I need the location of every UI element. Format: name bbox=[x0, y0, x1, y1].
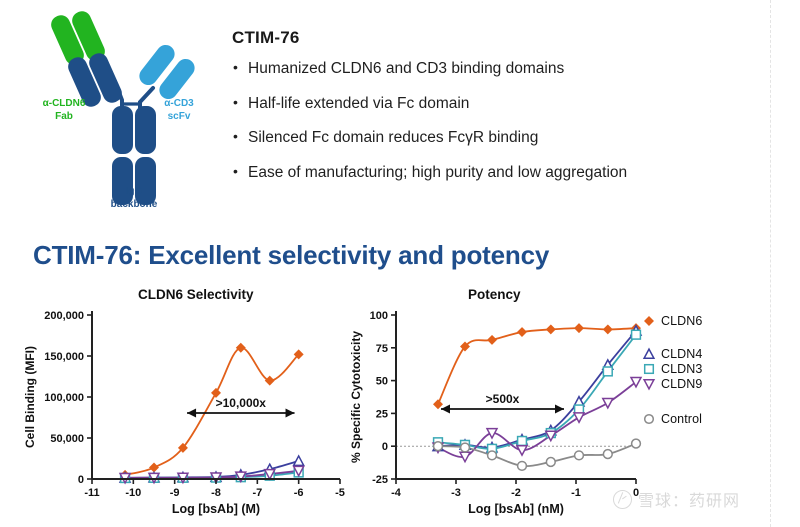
feature-bullet: Ease of manufacturing; high purity and l… bbox=[232, 165, 752, 181]
diagram-label-cd3-scfv: α-CD3 scFv bbox=[148, 98, 210, 123]
diagram-label-cldn6-fab-line2: Fab bbox=[26, 111, 102, 124]
legend-label: Control bbox=[661, 412, 702, 426]
feature-bullet: Humanized CLDN6 and CD3 binding domains bbox=[232, 61, 752, 77]
legend-spacer bbox=[640, 391, 760, 411]
svg-text:0: 0 bbox=[78, 474, 84, 486]
feature-bullet: Silenced Fc domain reduces FcγR binding bbox=[232, 130, 752, 146]
diamond-marker-icon bbox=[640, 313, 658, 328]
svg-text:% Specific Cytotoxicity: % Specific Cytotoxicity bbox=[349, 331, 363, 463]
svg-text:75: 75 bbox=[376, 343, 388, 355]
svg-text:Log [bsAb] (nM): Log [bsAb] (nM) bbox=[468, 502, 564, 516]
circle-marker-icon bbox=[640, 411, 658, 426]
legend-item-cldn3: CLDN3 bbox=[640, 361, 760, 376]
svg-text:-7: -7 bbox=[252, 487, 262, 499]
chart-legend: CLDN6 CLDN4 CLDN3 CLDN9 Control bbox=[640, 313, 760, 426]
section-headline: CTIM-76: Excellent selectivity and poten… bbox=[33, 240, 549, 271]
diagram-label-cd3-scfv-line2: scFv bbox=[148, 111, 210, 124]
svg-text:>500x: >500x bbox=[486, 392, 520, 406]
chart-potency: -4-3-2-10-250255075100Log [bsAb] (nM)% S… bbox=[348, 303, 648, 523]
diagram-label-cldn6-fab: α-CLDN6 Fab bbox=[26, 98, 102, 123]
watermark: 雪球：药研网 bbox=[613, 487, 740, 511]
svg-text:25: 25 bbox=[376, 408, 388, 420]
chart-title-potency: Potency bbox=[468, 287, 521, 302]
chart-cldn6-selectivity: -11-10-9-8-7-6-5050,000100,000150,000200… bbox=[20, 303, 350, 523]
backbone-ch2-left bbox=[112, 106, 133, 154]
watermark-logo-icon bbox=[613, 490, 632, 509]
svg-text:Cell Binding (MFI): Cell Binding (MFI) bbox=[23, 346, 37, 448]
legend-label: CLDN9 bbox=[661, 377, 703, 391]
legend-item-cldn4: CLDN4 bbox=[640, 346, 760, 361]
svg-text:-2: -2 bbox=[511, 487, 521, 499]
legend-spacer bbox=[640, 328, 760, 346]
chart-title-selectivity: CLDN6 Selectivity bbox=[138, 287, 254, 302]
legend-label: CLDN3 bbox=[661, 362, 703, 376]
svg-text:100,000: 100,000 bbox=[44, 392, 84, 404]
svg-text:Log [bsAb] (M): Log [bsAb] (M) bbox=[172, 502, 260, 516]
product-summary: CTIM-76 Humanized CLDN6 and CD3 binding … bbox=[232, 28, 752, 199]
svg-text:-1: -1 bbox=[571, 487, 581, 499]
svg-text:-10: -10 bbox=[125, 487, 141, 499]
svg-text:-11: -11 bbox=[84, 487, 99, 499]
slide-canvas: α-CLDN6 Fab α-CD3 scFv IgG backbone CTIM… bbox=[0, 0, 800, 527]
legend-label: CLDN4 bbox=[661, 347, 703, 361]
legend-item-cldn9: CLDN9 bbox=[640, 376, 760, 391]
svg-text:200,000: 200,000 bbox=[44, 310, 84, 322]
svg-text:-6: -6 bbox=[294, 487, 304, 499]
legend-label: CLDN6 bbox=[661, 314, 703, 328]
legend-item-cldn6: CLDN6 bbox=[640, 313, 760, 328]
svg-text:100: 100 bbox=[370, 310, 388, 322]
svg-text:50: 50 bbox=[376, 376, 388, 388]
svg-text:-4: -4 bbox=[391, 487, 402, 499]
feature-bullet-list: Humanized CLDN6 and CD3 binding domains … bbox=[232, 61, 752, 180]
triangle-down-marker-icon bbox=[640, 376, 658, 391]
diagram-label-igg-line2: backbone bbox=[82, 199, 186, 212]
watermark-text: 雪球：药研网 bbox=[638, 487, 740, 511]
svg-text:-9: -9 bbox=[170, 487, 180, 499]
diagram-label-igg-backbone: IgG backbone bbox=[82, 186, 186, 211]
svg-text:-25: -25 bbox=[372, 474, 388, 486]
product-title: CTIM-76 bbox=[232, 28, 752, 48]
square-marker-icon bbox=[640, 361, 658, 376]
svg-text:>10,000x: >10,000x bbox=[216, 396, 267, 410]
svg-text:150,000: 150,000 bbox=[44, 351, 84, 363]
svg-text:50,000: 50,000 bbox=[50, 433, 84, 445]
legend-item-control: Control bbox=[640, 411, 760, 426]
svg-text:0: 0 bbox=[382, 441, 388, 453]
svg-text:-3: -3 bbox=[451, 487, 461, 499]
svg-text:-8: -8 bbox=[211, 487, 221, 499]
diagram-label-igg-line1: IgG bbox=[82, 186, 186, 199]
triangle-up-marker-icon bbox=[640, 346, 658, 361]
feature-bullet: Half-life extended via Fc domain bbox=[232, 96, 752, 112]
diagram-label-cd3-scfv-line1: α-CD3 bbox=[148, 98, 210, 111]
diagram-label-cldn6-fab-line1: α-CLDN6 bbox=[26, 98, 102, 111]
svg-text:-5: -5 bbox=[335, 487, 345, 499]
